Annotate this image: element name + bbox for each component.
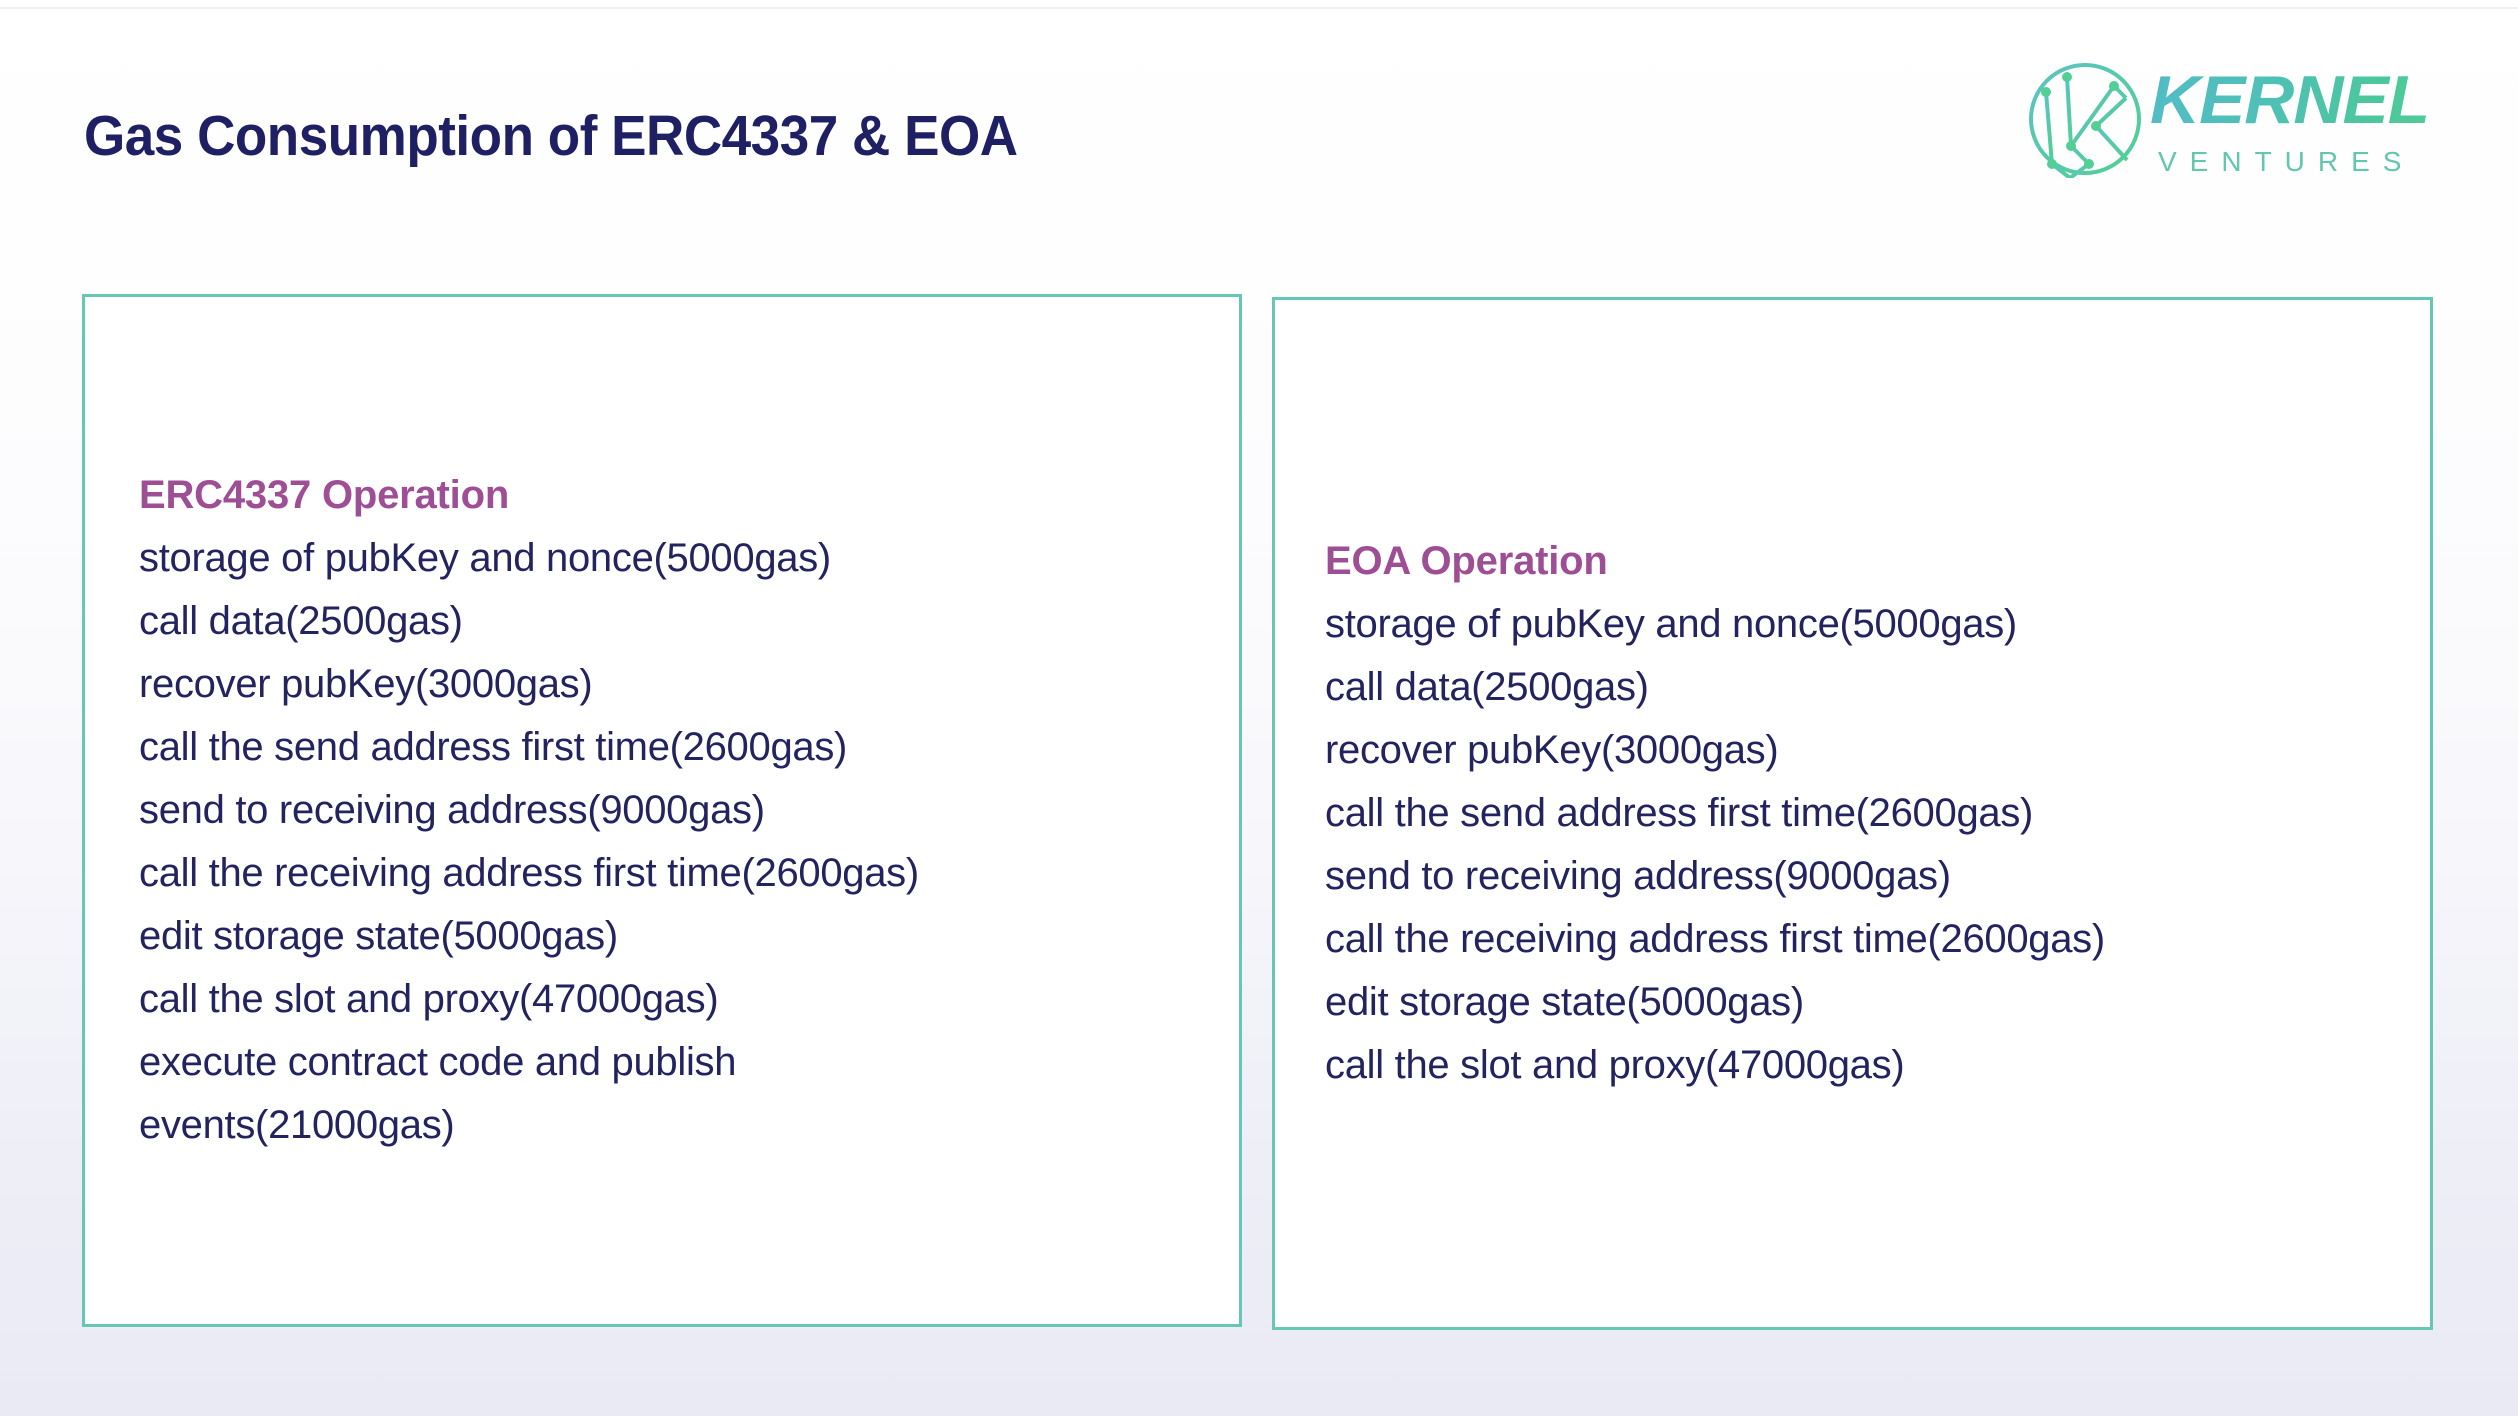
list-item: edit storage state(5000gas) [1325,971,2480,1034]
list-item: storage of pubKey and nonce(5000gas) [139,527,1293,590]
slide-canvas: Gas Consumption of ERC4337 & EOA [0,0,2518,1416]
list-item: storage of pubKey and nonce(5000gas) [1325,593,2480,656]
kernel-ventures-logo: KERNEL VENTURES [2026,48,2456,188]
logo-wordmark-text: KERNEL [2150,62,2462,138]
list-item: recover pubKey(3000gas) [139,653,1293,716]
list-item: call the slot and proxy(47000gas) [1325,1034,2480,1097]
panel-eoa-heading: EOA Operation [1325,530,2480,593]
list-item: call the send address first time(2600gas… [139,716,1293,779]
page-title: Gas Consumption of ERC4337 & EOA [84,103,1018,169]
panel-erc4337-body: ERC4337 Operation storage of pubKey and … [85,464,1293,1157]
panel-erc4337-operation-list: storage of pubKey and nonce(5000gas) cal… [139,527,1293,1157]
logo-wordmark: KERNEL [2150,62,2456,138]
list-item: call data(2500gas) [139,590,1293,653]
list-item: send to receiving address(9000gas) [139,779,1293,842]
list-item: edit storage state(5000gas) [139,905,1293,968]
kernel-k-monogram-icon [2026,60,2144,178]
list-item: recover pubKey(3000gas) [1325,719,2480,782]
list-item: call data(2500gas) [1325,656,2480,719]
list-item: execute contract code and publish events… [139,1031,1039,1157]
panel-eoa-body: EOA Operation storage of pubKey and nonc… [1275,530,2480,1097]
panel-erc4337: ERC4337 Operation storage of pubKey and … [82,294,1242,1327]
logo-subtitle-text: VENTURES [2158,146,2414,178]
list-item: call the slot and proxy(47000gas) [139,968,1293,1031]
list-item: call the send address first time(2600gas… [1325,782,2480,845]
panel-erc4337-heading: ERC4337 Operation [139,464,1293,527]
list-item: call the receiving address first time(26… [139,842,1293,905]
panel-eoa-operation-list: storage of pubKey and nonce(5000gas) cal… [1325,593,2480,1097]
top-hairline-divider [0,7,2518,9]
panel-eoa: EOA Operation storage of pubKey and nonc… [1272,297,2433,1330]
list-item: call the receiving address first time(26… [1325,908,2480,971]
list-item: send to receiving address(9000gas) [1325,845,2480,908]
